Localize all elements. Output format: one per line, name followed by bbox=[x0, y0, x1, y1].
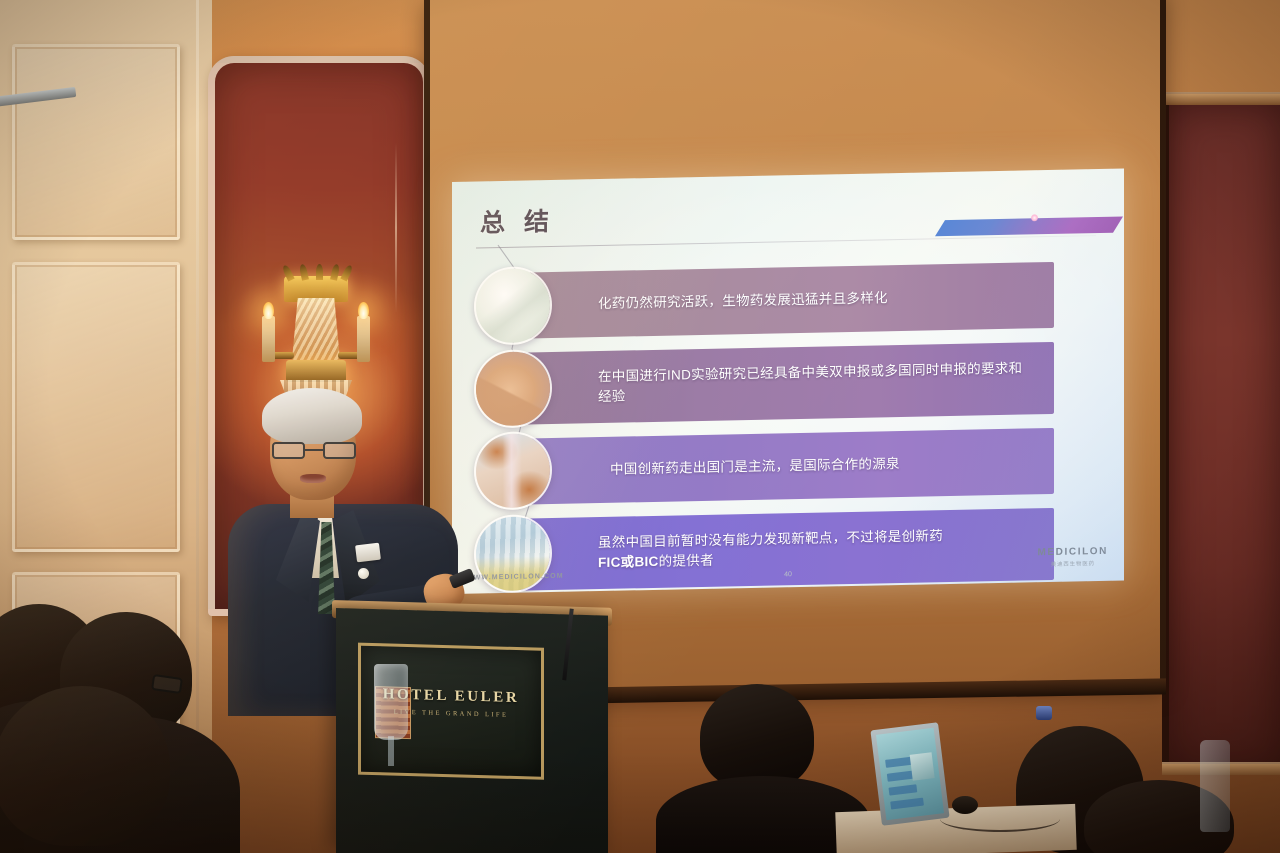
presenter-hair bbox=[262, 388, 362, 444]
laptop-screen-line bbox=[889, 784, 918, 795]
wall-rail-top bbox=[1162, 92, 1280, 105]
slide-title: 总 结 bbox=[480, 202, 555, 240]
wall-panel-mid-left bbox=[12, 262, 180, 552]
bullet-text-4-bold: FIC或BIC bbox=[598, 554, 659, 570]
water-bottle-cap bbox=[1036, 706, 1052, 720]
medicilon-logo-main: MEDICILON bbox=[1037, 546, 1108, 558]
eyeglass-lens-right bbox=[323, 442, 356, 459]
eyeglass-lens-left bbox=[272, 442, 305, 459]
building-lab-thumb bbox=[474, 514, 552, 594]
slide-bullet-3: 中国创新药走出国门是主流，是国际合作的源泉 bbox=[452, 427, 1124, 506]
niche-light-streak bbox=[395, 143, 397, 313]
wall-pilaster-edge bbox=[196, 0, 199, 853]
handshake-thumb bbox=[474, 349, 552, 429]
presenter-lapel-pin bbox=[358, 568, 369, 579]
presentation-photo-scene: 总 结 化药仍然研究活跃，生物药发展迅猛并且多样化 在中国进行IND实验研究已经… bbox=[0, 0, 1280, 853]
candle-flame-right bbox=[358, 302, 369, 319]
laptop-screen bbox=[876, 728, 944, 820]
hands-globe-thumb bbox=[474, 431, 552, 511]
laptop-screen-image bbox=[910, 752, 935, 780]
lab-pipette-thumb bbox=[474, 266, 552, 346]
right-red-wall-panel bbox=[1162, 105, 1280, 770]
slide-bullet-2: 在中国进行IND实验研究已经具备中美双申报或多国同时申报的要求和经验 bbox=[452, 341, 1124, 426]
audience-head-4 bbox=[700, 684, 814, 790]
presenter-name-badge bbox=[355, 543, 381, 563]
audience-head-3 bbox=[0, 686, 170, 846]
slide-bullet-1: 化药仍然研究活跃，生物药发展迅猛并且多样化 bbox=[452, 261, 1124, 340]
projected-slide: 总 结 化药仍然研究活跃，生物药发展迅猛并且多样化 在中国进行IND实验研究已经… bbox=[452, 169, 1124, 594]
bullet-bar-1: 化药仍然研究活跃，生物药发展迅猛并且多样化 bbox=[520, 262, 1054, 339]
sconce-crystal-body bbox=[292, 298, 340, 360]
water-bottle bbox=[1200, 740, 1230, 832]
bullet-text-1: 化药仍然研究活跃，生物药发展迅猛并且多样化 bbox=[520, 288, 906, 315]
wall-panel-upper-left bbox=[12, 44, 180, 240]
crown-spike bbox=[316, 264, 323, 280]
presenter-mouth bbox=[300, 474, 326, 483]
bullet-text-4-rest: 的提供者 bbox=[659, 553, 714, 569]
bullet-bar-3: 中国创新药走出国门是主流，是国际合作的源泉 bbox=[520, 428, 1054, 505]
bullet-text-2: 在中国进行IND实验研究已经具备中美双申报或多国同时申报的要求和经验 bbox=[520, 358, 1054, 408]
medicilon-logo: MEDICILON 美迪西生物医药 bbox=[1037, 546, 1108, 568]
bullet-text-4: 虽然中国目前暂时没有能力发现新靶点，不过将是创新药 FIC或BIC的提供者 bbox=[520, 526, 961, 574]
presenter-eyeglasses bbox=[272, 442, 356, 460]
bullet-text-4-line1: 虽然中国目前暂时没有能力发现新靶点，不过将是创新药 bbox=[598, 529, 943, 551]
sconce-crystal-base bbox=[286, 360, 346, 382]
water-glass bbox=[374, 664, 408, 740]
sconce-candle-left bbox=[262, 316, 275, 362]
slide-page-number: 40 bbox=[784, 571, 792, 578]
slide-title-rule bbox=[476, 235, 1096, 248]
audience-laptop bbox=[870, 722, 949, 826]
laptop-lid bbox=[870, 722, 949, 826]
microphone-cable bbox=[940, 806, 1060, 832]
bullet-text-3: 中国创新药走出国门是主流，是国际合作的源泉 bbox=[520, 454, 918, 482]
medicilon-logo-sub: 美迪西生物医药 bbox=[1037, 559, 1108, 568]
bullet-bar-2: 在中国进行IND实验研究已经具备中美双申报或多国同时申报的要求和经验 bbox=[520, 342, 1054, 425]
sconce-candle-right bbox=[357, 316, 370, 362]
water-glass-stem bbox=[388, 736, 394, 766]
laptop-screen-line bbox=[890, 798, 924, 810]
lectern-microphone-stem bbox=[562, 609, 574, 681]
candle-flame-left bbox=[263, 302, 274, 319]
eyeglass-bridge bbox=[305, 449, 323, 451]
slide-accent-bar bbox=[935, 217, 1123, 237]
